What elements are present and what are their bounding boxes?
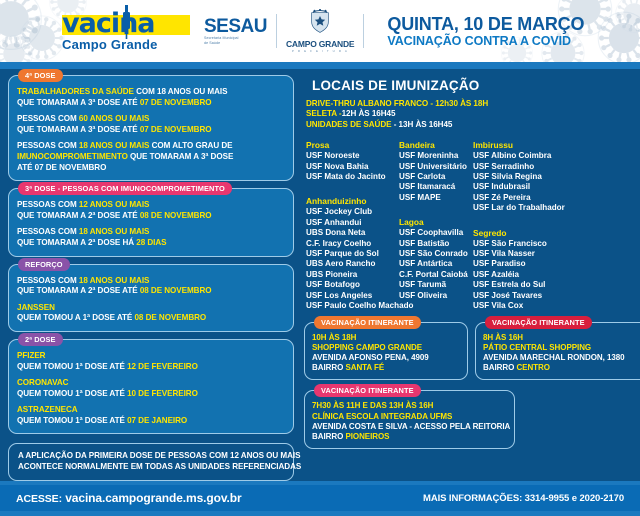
- plain-text: BAIRRO: [312, 363, 345, 372]
- highlighted-text: 10 DE FEVEREIRO: [127, 389, 198, 398]
- health-unit: USF Nova Bahia: [306, 162, 399, 172]
- health-unit: USF Coophavilla: [399, 228, 473, 238]
- plain-text: AVENIDA COSTA E SILVA - ACESSO PELA REIT…: [312, 422, 510, 431]
- dose-badge: 4ª DOSE: [18, 69, 63, 82]
- locations-hours: DRIVE-THRU ALBANO FRANCO - 12h30 ÀS 18HS…: [306, 99, 640, 130]
- campo-grande-subtitle: P R E F E I T U R A: [286, 49, 354, 53]
- header-divider-1: [276, 14, 277, 48]
- health-unit: USF Oliveira: [399, 291, 473, 301]
- footer-access: ACESSE: vacina.campogrande.ms.gov.br: [16, 491, 242, 505]
- highlighted-text: 60 ANOS OU MAIS: [79, 114, 149, 123]
- text-line: SHOPPING CAMPO GRANDE: [312, 343, 460, 353]
- itinerant-vaccination-card: VACINAÇÃO ITINERANTE7H30 ÀS 11H E DAS 13…: [304, 390, 515, 449]
- dose-card: REFORÇOPESSOAS COM 18 ANOS OU MAISQUE TO…: [8, 264, 294, 332]
- highlighted-text: 18 ANOS OU MAIS: [79, 276, 149, 285]
- text-line: ACONTECE NORMALMENTE EM TODAS AS UNIDADE…: [18, 462, 284, 473]
- region-name: Segredo: [473, 227, 565, 239]
- dose-group: ASTRAZENECAQUEM TOMOU 1ª DOSE ATÉ 07 DE …: [17, 405, 285, 426]
- text-line: PFIZER: [17, 351, 285, 362]
- text-line: PESSOAS COM 12 ANOS OU MAIS: [17, 200, 285, 211]
- locations-title: LOCAIS DE IMUNIZAÇÃO: [312, 78, 640, 93]
- right-column: LOCAIS DE IMUNIZAÇÃO DRIVE-THRU ALBANO F…: [304, 75, 640, 481]
- health-unit: USF Noroeste: [306, 151, 399, 161]
- dose-card: 2ª DOSEPFIZERQUEM TOMOU 1ª DOSE ATÉ 12 D…: [8, 339, 294, 435]
- logo-word: vacina: [62, 10, 155, 38]
- text-line: QUE TOMARAM A 3ª DOSE ATÉ 07 DE NOVEMBRO: [17, 125, 285, 136]
- health-unit: USF Paulo Coelho Machado: [306, 301, 399, 311]
- health-unit: C.F. Iracy Coelho: [306, 239, 399, 249]
- plain-text: ACONTECE NORMALMENTE EM TODAS AS UNIDADE…: [18, 462, 301, 471]
- highlighted-text: SHOPPING CAMPO GRANDE: [312, 343, 422, 352]
- highlighted-text: CLÍNICA ESCOLA INTEGRADA UFMS: [312, 412, 452, 421]
- text-line: PESSOAS COM 18 ANOS OU MAIS COM ALTO GRA…: [17, 141, 285, 152]
- health-unit: UBS Aero Rancho: [306, 259, 399, 269]
- plain-text: PESSOAS COM: [17, 227, 79, 236]
- highlighted-text: JANSSEN: [17, 303, 55, 312]
- health-unit: USF Serradinho: [473, 162, 565, 172]
- text-line: AVENIDA COSTA E SILVA - ACESSO PELA REIT…: [312, 422, 507, 432]
- health-unit: USF Antártica: [399, 259, 473, 269]
- header-campaign: VACINAÇÃO CONTRA A COVID: [387, 34, 584, 48]
- footer-info: MAIS INFORMAÇÕES: 3314-9955 e 2020-2170: [423, 493, 624, 504]
- text-line: ATÉ 07 DE NOVEMBRO: [17, 163, 285, 174]
- highlighted-text: 10H ÀS 18H: [312, 333, 356, 342]
- plain-text: BAIRRO: [483, 363, 516, 372]
- plain-text: 12H ÀS 16H45: [342, 109, 396, 118]
- left-column: 4ª DOSETRABALHADORES DA SAÚDE COM 18 ANO…: [8, 75, 294, 481]
- region-name: Bandeira: [399, 139, 473, 151]
- health-unit: USF São Conrado: [399, 249, 473, 259]
- health-unit: USF Silvia Regina: [473, 172, 565, 182]
- health-unit: USF Indubrasil: [473, 182, 565, 192]
- health-unit: USF Botafogo: [306, 280, 399, 290]
- highlighted-text: CENTRO: [516, 363, 549, 372]
- text-line: BAIRRO SANTA FÉ: [312, 363, 460, 373]
- dose-group: PESSOAS COM 18 ANOS OU MAIS COM ALTO GRA…: [17, 141, 285, 173]
- plain-text: QUEM TOMOU A 1ª DOSE ATÉ: [17, 313, 134, 322]
- unit-column: ImbirussuUSF Albino CoimbraUSF Serradinh…: [473, 139, 565, 311]
- highlighted-text: 08 DE NOVEMBRO: [140, 286, 212, 295]
- text-line: IMUNOCOMPROMETIMENTO QUE TOMARAM A 3ª DO…: [17, 152, 285, 163]
- dose-badge: REFORÇO: [18, 258, 70, 271]
- dose-group: PFIZERQUEM TOMOU 1ª DOSE ATÉ 12 DE FEVER…: [17, 351, 285, 372]
- highlighted-text: SELETA -: [306, 109, 342, 118]
- plain-text: QUE TOMARAM A 2ª DOSE ATÉ: [17, 286, 140, 295]
- health-unit: USF Tarumã: [399, 280, 473, 290]
- highlighted-text: 7H30 ÀS 11H E DAS 13H ÀS 16H: [312, 401, 433, 410]
- text-line: TRABALHADORES DA SAÚDE COM 18 ANOS OU MA…: [17, 87, 285, 98]
- health-unit: USF MAPE: [399, 193, 473, 203]
- dose-group: JANSSENQUEM TOMOU A 1ª DOSE ATÉ 08 DE NO…: [17, 303, 285, 324]
- region-name: Prosa: [306, 139, 399, 151]
- plain-text: - 13H ÀS 16H45: [392, 120, 453, 129]
- dose-group: PESSOAS COM 18 ANOS OU MAISQUE TOMARAM A…: [17, 276, 285, 297]
- highlighted-text: PÁTIO CENTRAL SHOPPING: [483, 343, 591, 352]
- plain-text: QUEM TOMOU 1ª DOSE ATÉ: [17, 389, 127, 398]
- highlighted-text: 07 DE NOVEMBRO: [140, 98, 212, 107]
- highlighted-text: 07 DE JANEIRO: [127, 416, 187, 425]
- highlighted-text: TRABALHADORES DA SAÚDE: [17, 87, 134, 96]
- spacer: [399, 203, 473, 212]
- text-line: 7H30 ÀS 11H E DAS 13H ÀS 16H: [312, 401, 507, 411]
- itinerant-badge: VACINAÇÃO ITINERANTE: [485, 316, 592, 329]
- plain-text: PESSOAS COM: [17, 141, 79, 150]
- plain-text: QUE TOMARAM A 3ª DOSE ATÉ: [17, 98, 140, 107]
- plain-text: AVENIDA MARECHAL RONDON, 1380: [483, 353, 625, 362]
- text-line: QUEM TOMOU A 1ª DOSE ATÉ 08 DE NOVEMBRO: [17, 313, 285, 324]
- health-unit: USF Itamaracá: [399, 182, 473, 192]
- plain-text: QUE TOMARAM A 3ª DOSE: [128, 152, 233, 161]
- health-unit: USF Carlota: [399, 172, 473, 182]
- highlighted-text: 07 DE NOVEMBRO: [140, 125, 212, 134]
- dose-group: PESSOAS COM 12 ANOS OU MAISQUE TOMARAM A…: [17, 200, 285, 221]
- health-unit: USF Mata do Jacinto: [306, 172, 399, 182]
- health-unit: UBS Dona Neta: [306, 228, 399, 238]
- plain-text: QUE TOMARAM A 2ª DOSE ATÉ: [17, 211, 140, 220]
- text-line: PESSOAS COM 60 ANOS OU MAIS: [17, 114, 285, 125]
- text-line: AVENIDA AFONSO PENA, 4909: [312, 353, 460, 363]
- dose-group: CORONAVACQUEM TOMOU 1ª DOSE ATÉ 10 DE FE…: [17, 378, 285, 399]
- health-unit: USF Jockey Club: [306, 207, 399, 217]
- itinerant-vaccination-card: VACINAÇÃO ITINERANTE8H ÀS 16HPÁTIO CENTR…: [475, 322, 640, 381]
- unit-column: ProsaUSF NoroesteUSF Nova BahiaUSF Mata …: [306, 139, 399, 311]
- text-line: PÁTIO CENTRAL SHOPPING: [483, 343, 640, 353]
- footer-rule-bottom: [0, 511, 640, 516]
- text-line: UNIDADES DE SAÚDE - 13H ÀS 16H45: [306, 120, 640, 130]
- coat-of-arms-icon: [309, 20, 331, 37]
- spacer: [473, 214, 565, 223]
- health-unit: USF Albino Coimbra: [473, 151, 565, 161]
- itinerant-row-2: VACINAÇÃO ITINERANTE7H30 ÀS 11H E DAS 13…: [304, 390, 640, 449]
- highlighted-text: 12 ANOS OU MAIS: [79, 200, 149, 209]
- plain-text: QUE TOMARAM A 2ª DOSE HÁ: [17, 238, 136, 247]
- dose-group: PESSOAS COM 18 ANOS OU MAISQUE TOMARAM A…: [17, 227, 285, 248]
- region-name: Imbirussu: [473, 139, 565, 151]
- health-unit: USF Paradiso: [473, 259, 565, 269]
- text-line: QUE TOMARAM A 3ª DOSE ATÉ 07 DE NOVEMBRO: [17, 98, 285, 109]
- highlighted-text: PFIZER: [17, 351, 45, 360]
- health-unit: USF Batistão: [399, 239, 473, 249]
- plain-text: QUEM TOMOU 1ª DOSE ATÉ: [17, 416, 127, 425]
- campo-grande-logo: CAMPO GRANDE P R E F E I T U R A: [286, 9, 354, 53]
- itinerant-badge: VACINAÇÃO ITINERANTE: [314, 316, 421, 329]
- plain-text: ATÉ 07 DE NOVEMBRO: [17, 163, 106, 172]
- first-dose-note: A APLICAÇÃO DA PRIMEIRA DOSE DE PESSOAS …: [8, 443, 294, 480]
- highlighted-text: 18 ANOS OU MAIS: [79, 227, 149, 236]
- plain-text: COM 18 ANOS OU MAIS: [134, 87, 228, 96]
- footer-site-link[interactable]: vacina.campogrande.ms.gov.br: [65, 491, 241, 505]
- text-line: BAIRRO CENTRO: [483, 363, 640, 373]
- text-line: SELETA -12H ÀS 16H45: [306, 109, 640, 119]
- plain-text: COM ALTO GRAU DE: [149, 141, 232, 150]
- itinerant-vaccination-card: VACINAÇÃO ITINERANTE10H ÀS 18HSHOPPING C…: [304, 322, 468, 381]
- highlighted-text: ASTRAZENECA: [17, 405, 78, 414]
- text-line: DRIVE-THRU ALBANO FRANCO - 12h30 ÀS 18H: [306, 99, 640, 109]
- highlighted-text: IMUNOCOMPROMETIMENTO: [17, 152, 128, 161]
- header: vacina Campo Grande SESAU Secretaria Mun…: [0, 0, 640, 62]
- header-date: QUINTA, 10 DE MARÇO: [387, 14, 584, 34]
- content-body: 4ª DOSETRABALHADORES DA SAÚDE COM 18 ANO…: [0, 69, 640, 481]
- unit-column: BandeiraUSF MoreninhaUSF UniversitárioUS…: [399, 139, 473, 311]
- plain-text: A APLICAÇÃO DA PRIMEIRA DOSE DE PESSOAS …: [18, 451, 300, 460]
- health-unit: UBS Pioneira: [306, 270, 399, 280]
- itinerant-row-1: VACINAÇÃO ITINERANTE10H ÀS 18HSHOPPING C…: [304, 322, 640, 381]
- health-unit: USF Anhandui: [306, 218, 399, 228]
- plain-text: AVENIDA AFONSO PENA, 4909: [312, 353, 429, 362]
- health-unit: USF José Tavares: [473, 291, 565, 301]
- highlighted-text: 28 DIAS: [136, 238, 166, 247]
- text-line: QUE TOMARAM A 2ª DOSE ATÉ 08 DE NOVEMBRO: [17, 211, 285, 222]
- text-line: PESSOAS COM 18 ANOS OU MAIS: [17, 227, 285, 238]
- plain-text: PESSOAS COM: [17, 276, 79, 285]
- highlighted-text: DRIVE-THRU ALBANO FRANCO - 12h30 ÀS 18H: [306, 99, 488, 108]
- sesau-sub2: de Saúde: [204, 41, 267, 46]
- text-line: QUE TOMARAM A 2ª DOSE HÁ 28 DIAS: [17, 238, 285, 249]
- syringe-icon: [122, 5, 131, 44]
- dose-card: 4ª DOSETRABALHADORES DA SAÚDE COM 18 ANO…: [8, 75, 294, 181]
- dose-badge: 2ª DOSE: [18, 333, 63, 346]
- plain-text: BAIRRO: [312, 432, 345, 441]
- infographic-page: vacina Campo Grande SESAU Secretaria Mun…: [0, 0, 640, 511]
- text-line: PESSOAS COM 18 ANOS OU MAIS: [17, 276, 285, 287]
- header-date-block: QUINTA, 10 DE MARÇO VACINAÇÃO CONTRA A C…: [387, 14, 584, 48]
- text-line: ASTRAZENECA: [17, 405, 285, 416]
- highlighted-text: 12 DE FEVEREIRO: [127, 362, 198, 371]
- highlighted-text: 18 ANOS OU MAIS: [79, 141, 149, 150]
- text-line: CLÍNICA ESCOLA INTEGRADA UFMS: [312, 412, 507, 422]
- region-name: Lagoa: [399, 216, 473, 228]
- text-line: 8H ÀS 16H: [483, 333, 640, 343]
- health-unit: USF Universitário: [399, 162, 473, 172]
- dose-cards: 4ª DOSETRABALHADORES DA SAÚDE COM 18 ANO…: [8, 75, 294, 434]
- plain-text: PESSOAS COM: [17, 200, 79, 209]
- highlighted-text: 08 DE NOVEMBRO: [134, 313, 206, 322]
- health-unit: USF Azaléia: [473, 270, 565, 280]
- health-unit: USF Los Angeles: [306, 291, 399, 301]
- plain-text: PESSOAS COM: [17, 114, 79, 123]
- text-line: QUE TOMARAM A 2ª DOSE ATÉ 08 DE NOVEMBRO: [17, 286, 285, 297]
- health-unit: C.F. Portal Caiobá: [399, 270, 473, 280]
- vacina-logo: vacina Campo Grande: [62, 10, 194, 52]
- text-line: QUEM TOMOU 1ª DOSE ATÉ 07 DE JANEIRO: [17, 416, 285, 427]
- text-line: QUEM TOMOU 1ª DOSE ATÉ 12 DE FEVEREIRO: [17, 362, 285, 373]
- header-rule: [0, 62, 640, 69]
- highlighted-text: CORONAVAC: [17, 378, 68, 387]
- plain-text: QUEM TOMOU 1ª DOSE ATÉ: [17, 362, 127, 371]
- unit-columns: ProsaUSF NoroesteUSF Nova BahiaUSF Mata …: [306, 139, 640, 311]
- footer-access-label: ACESSE:: [16, 493, 62, 505]
- text-line: CORONAVAC: [17, 378, 285, 389]
- health-unit: USF São Francisco: [473, 239, 565, 249]
- sesau-logo: SESAU Secretaria Municipal de Saúde: [204, 17, 267, 45]
- text-line: A APLICAÇÃO DA PRIMEIRA DOSE DE PESSOAS …: [18, 451, 284, 462]
- health-unit: USF Vila Cox: [473, 301, 565, 311]
- campo-grande-name: CAMPO GRANDE: [286, 39, 354, 49]
- dose-card: 3ª DOSE - PESSOAS COM IMUNOCOMPROMETIMEN…: [8, 188, 294, 256]
- text-line: AVENIDA MARECHAL RONDON, 1380: [483, 353, 640, 363]
- spacer: [306, 182, 399, 191]
- header-divider-2: [363, 14, 364, 48]
- health-unit: USF Moreninha: [399, 151, 473, 161]
- text-line: QUEM TOMOU 1ª DOSE ATÉ 10 DE FEVEREIRO: [17, 389, 285, 400]
- region-name: Anhanduizinho: [306, 195, 399, 207]
- health-unit: USF Estrela do Sul: [473, 280, 565, 290]
- itinerant-badge: VACINAÇÃO ITINERANTE: [314, 384, 421, 397]
- text-line: BAIRRO PIONEIROS: [312, 432, 507, 442]
- highlighted-text: PIONEIROS: [345, 432, 389, 441]
- health-unit: USF Parque do Sol: [306, 249, 399, 259]
- text-line: 10H ÀS 18H: [312, 333, 460, 343]
- dose-group: TRABALHADORES DA SAÚDE COM 18 ANOS OU MA…: [17, 87, 285, 108]
- dose-badge: 3ª DOSE - PESSOAS COM IMUNOCOMPROMETIMEN…: [18, 182, 232, 195]
- health-unit: USF Vila Nasser: [473, 249, 565, 259]
- text-line: JANSSEN: [17, 303, 285, 314]
- highlighted-text: 08 DE NOVEMBRO: [140, 211, 212, 220]
- health-unit: USF Zé Pereira: [473, 193, 565, 203]
- plain-text: QUE TOMARAM A 3ª DOSE ATÉ: [17, 125, 140, 134]
- dose-group: PESSOAS COM 60 ANOS OU MAISQUE TOMARAM A…: [17, 114, 285, 135]
- sesau-name: SESAU: [204, 17, 267, 36]
- highlighted-text: SANTA FÉ: [345, 363, 384, 372]
- health-unit: USF Lar do Trabalhador: [473, 203, 565, 213]
- footer: ACESSE: vacina.campogrande.ms.gov.br MAI…: [0, 485, 640, 511]
- highlighted-text: 8H ÀS 16H: [483, 333, 523, 342]
- highlighted-text: UNIDADES DE SAÚDE: [306, 120, 392, 129]
